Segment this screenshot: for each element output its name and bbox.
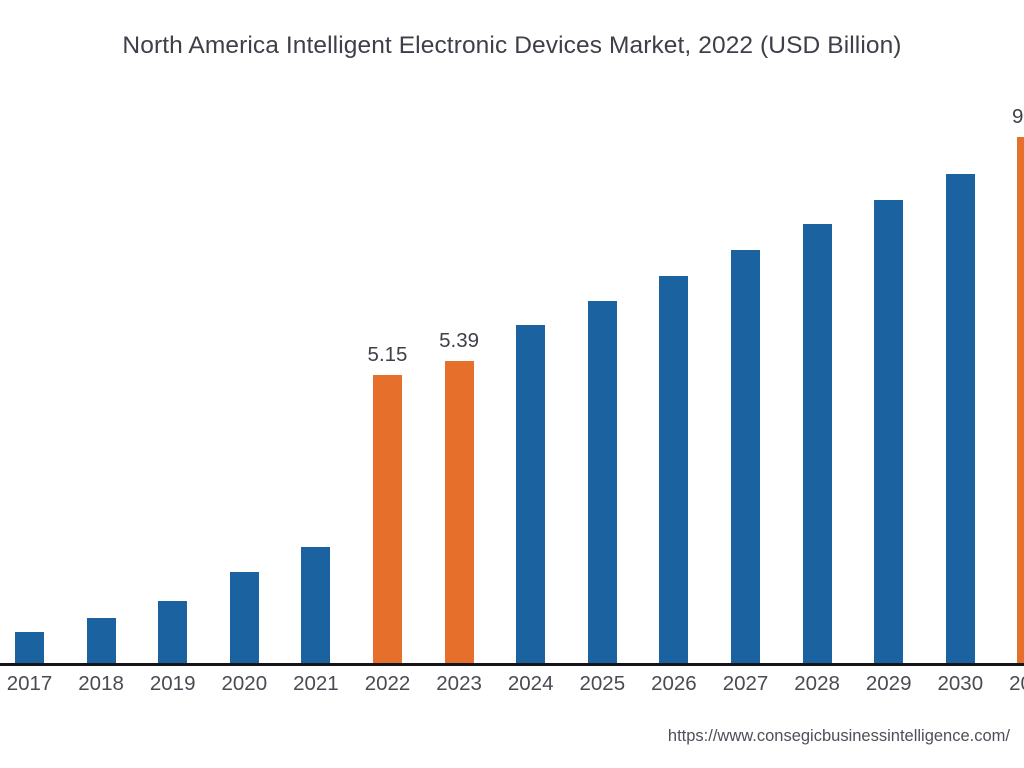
source-url: https://www.consegicbusinessintelligence… (668, 727, 1010, 746)
tick-label-2018: 2018 (66, 672, 136, 696)
bar-group (874, 1, 903, 664)
bar-group (15, 1, 44, 664)
bar-2030 (946, 174, 975, 664)
tick-label-2027: 2027 (711, 672, 781, 696)
bar-2017 (15, 632, 44, 664)
bar-group: 5.39 (445, 1, 474, 664)
bar-group (301, 1, 330, 664)
tick-label-2019: 2019 (138, 672, 208, 696)
bar-2028 (803, 224, 832, 664)
tick-label-2022: 2022 (353, 672, 423, 696)
tick-label-2021: 2021 (281, 672, 351, 696)
bar-group: 5.15 (373, 1, 402, 664)
bar-group (158, 1, 187, 664)
x-axis-line (0, 663, 1024, 666)
bar-2027 (731, 250, 760, 664)
bar-2021 (301, 547, 330, 664)
tick-label-2023: 2023 (424, 672, 494, 696)
tick-label-2024: 2024 (496, 672, 566, 696)
bar-value-label-2031: 9.38 (1012, 105, 1024, 129)
bar-group: 9.38 (1017, 1, 1024, 664)
bar-group (731, 1, 760, 664)
bar-value-label-2022: 5.15 (368, 343, 408, 367)
bar-2019 (158, 601, 187, 664)
bar-2020 (230, 572, 259, 664)
tick-label-2030: 2030 (925, 672, 995, 696)
plot-area: 5.155.399.38 (0, 0, 1024, 664)
bar-2023 (445, 361, 474, 664)
bar-value-label-2023: 5.39 (439, 329, 479, 353)
bar-2029 (874, 200, 903, 664)
bar-chart: North America Intelligent Electronic Dev… (0, 0, 1024, 768)
bar-group (803, 1, 832, 664)
x-axis-tick-labels: 2017201820192020202120222023202420252026… (0, 672, 1024, 706)
tick-label-2028: 2028 (782, 672, 852, 696)
bar-group (659, 1, 688, 664)
bar-2031 (1017, 137, 1024, 664)
bar-group (230, 1, 259, 664)
bar-group (516, 1, 545, 664)
bar-group (946, 1, 975, 664)
tick-label-2031: 2031 (997, 672, 1024, 696)
tick-label-2026: 2026 (639, 672, 709, 696)
bar-2025 (588, 301, 617, 664)
tick-label-2025: 2025 (567, 672, 637, 696)
bar-2024 (516, 325, 545, 664)
tick-label-2017: 2017 (0, 672, 65, 696)
bar-2018 (87, 618, 116, 664)
bar-2022 (373, 375, 402, 664)
bar-2026 (659, 276, 688, 664)
tick-label-2020: 2020 (209, 672, 279, 696)
bar-group (87, 1, 116, 664)
tick-label-2029: 2029 (854, 672, 924, 696)
bar-group (588, 1, 617, 664)
